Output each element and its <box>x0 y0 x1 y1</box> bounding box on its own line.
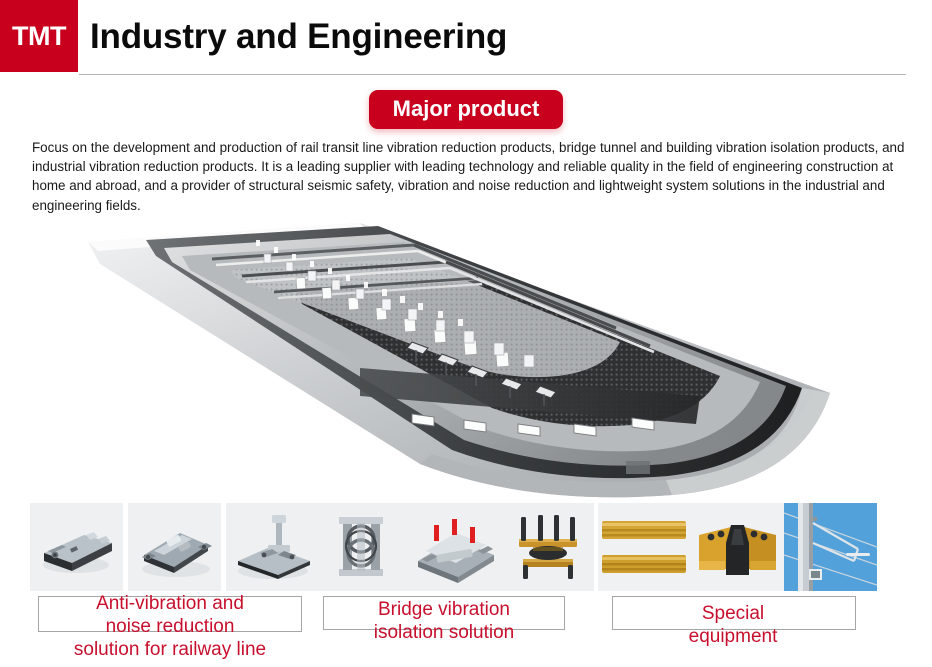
rail-clamp-assembly-thumb[interactable] <box>691 503 784 591</box>
group-label-railway-line: Anti-vibration and noise reduction solut… <box>30 592 310 661</box>
seismic-bearing-test-rig-thumb[interactable] <box>408 503 501 591</box>
brand-logo-text: TMT <box>0 0 78 72</box>
tunnel-track-illustration <box>60 218 880 503</box>
elastomeric-bearing-thumb[interactable] <box>501 503 594 591</box>
header-divider <box>79 74 906 75</box>
intro-paragraph: Focus on the development and production … <box>32 138 906 215</box>
brand-logo: TMT <box>0 0 78 72</box>
rail-vibration-absorber-thumb[interactable] <box>226 503 319 591</box>
group-label-bridge-isolation: Bridge vibration isolation solution <box>318 598 570 644</box>
major-product-badge: Major product <box>369 90 564 129</box>
section-badge-container: Major product <box>0 90 932 129</box>
page-title: Industry and Engineering <box>90 17 507 57</box>
rail-fastener-assembly-thumb[interactable] <box>128 503 221 591</box>
page-header: TMT Industry and Engineering <box>0 0 932 80</box>
group-label-special-equipment: Special equipment <box>608 602 858 648</box>
coil-spring-isolator-thumb[interactable] <box>315 503 408 591</box>
catenary-mast-thumb[interactable] <box>784 503 877 591</box>
yellow-guide-rails-thumb[interactable] <box>598 503 691 591</box>
rail-baseplate-thumb[interactable] <box>30 503 123 591</box>
